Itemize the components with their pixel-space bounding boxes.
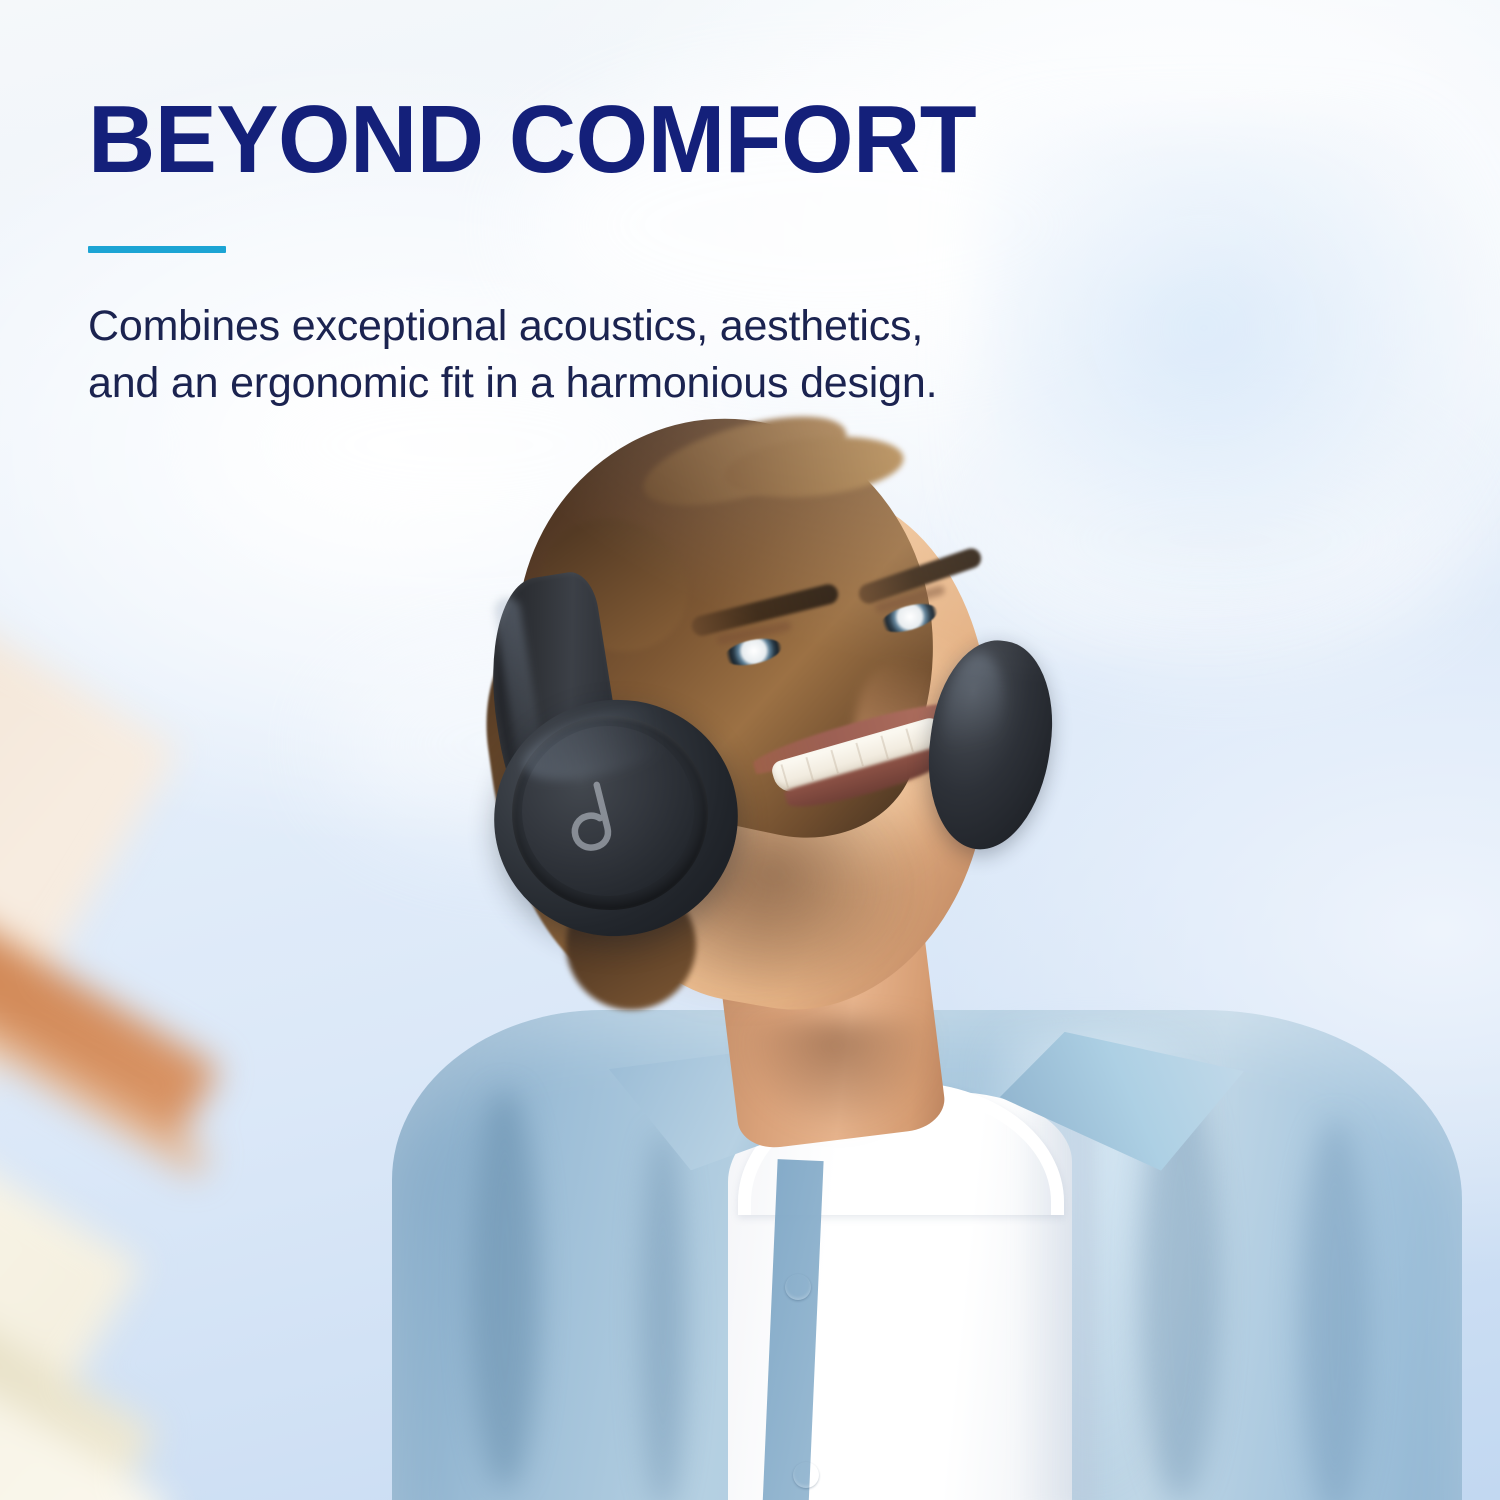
- subcopy-line-1: Combines exceptional acoustics, aestheti…: [88, 298, 1108, 355]
- accent-rule-divider: [88, 246, 226, 253]
- page-title: BEYOND COMFORT: [88, 92, 1077, 188]
- subcopy: Combines exceptional acoustics, aestheti…: [88, 298, 1108, 412]
- shirt-button: [785, 1274, 811, 1300]
- subcopy-line-2: and an ergonomic fit in a harmonious des…: [88, 355, 1108, 412]
- neck-shadow: [742, 1020, 932, 1130]
- copy-block: BEYOND COMFORT Combines exceptional acou…: [88, 92, 1108, 412]
- shirt-fold: [470, 1090, 540, 1490]
- shirt-fold: [1300, 1120, 1370, 1500]
- shirt-button: [793, 1462, 819, 1488]
- product-marketing-poster: BEYOND COMFORT Combines exceptional acou…: [0, 0, 1500, 1500]
- shirt-fold: [640, 1130, 686, 1500]
